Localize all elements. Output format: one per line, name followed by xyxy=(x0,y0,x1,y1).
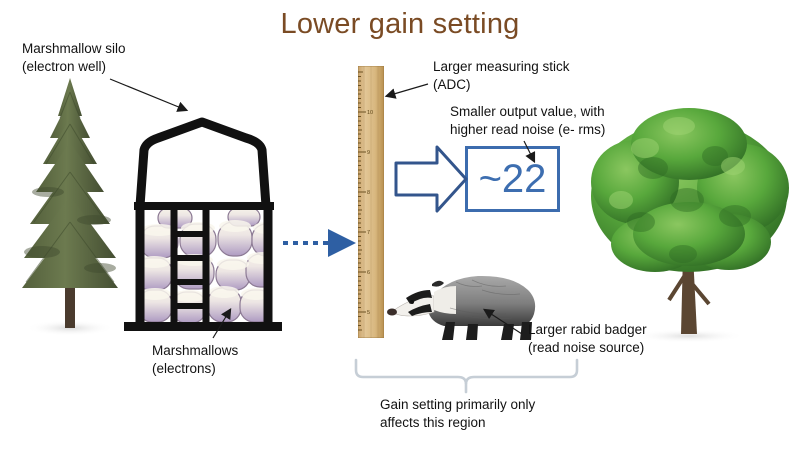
label-gain-region: Gain setting primarily only affects this… xyxy=(380,396,535,432)
label-badger: Larger rabid badger (read noise source) xyxy=(528,321,647,357)
label-output-value: Smaller output value, with higher read n… xyxy=(450,103,605,139)
svg-text:8: 8 xyxy=(367,190,370,196)
label-marshmallows: Marshmallows (electrons) xyxy=(152,342,238,378)
svg-text:6: 6 xyxy=(367,270,370,276)
label-marshmallow-silo: Marshmallow silo (electron well) xyxy=(22,40,126,76)
output-value-box: ~22 xyxy=(465,146,560,212)
conifer-tree xyxy=(8,72,120,338)
svg-text:5: 5 xyxy=(367,310,370,316)
broadleaf-tree xyxy=(583,104,795,342)
svg-text:10: 10 xyxy=(367,110,373,116)
slide-canvas: Lower gain setting xyxy=(0,0,800,450)
leader-stick xyxy=(387,84,428,96)
right-block-arrow xyxy=(396,147,466,211)
page-title: Lower gain setting xyxy=(0,8,800,41)
svg-text:9: 9 xyxy=(367,150,370,156)
marshmallow-silo xyxy=(118,58,290,343)
output-value-text: ~22 xyxy=(468,149,557,209)
badger xyxy=(386,256,542,342)
svg-text:7: 7 xyxy=(367,230,370,236)
label-measuring-stick: Larger measuring stick (ADC) xyxy=(433,58,570,94)
measuring-stick-ruler: 10 9 8 7 6 5 xyxy=(358,66,384,338)
region-brace xyxy=(356,360,577,392)
